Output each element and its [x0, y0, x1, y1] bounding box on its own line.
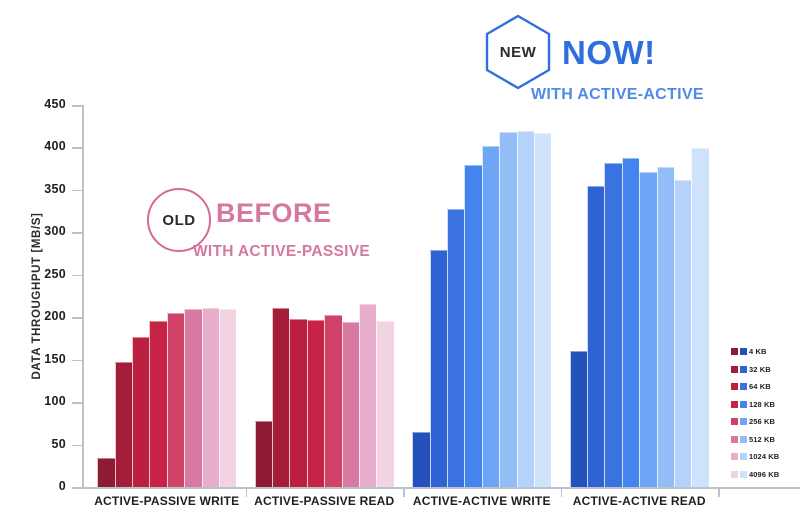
- bar: [482, 146, 499, 487]
- legend-swatch-red: [731, 348, 738, 355]
- legend-swatch-blue: [740, 418, 747, 425]
- y-axis-tick: [72, 147, 82, 149]
- legend-swatch-blue: [740, 453, 747, 460]
- y-axis-line: [82, 105, 84, 488]
- bar: [499, 132, 516, 487]
- bar: [167, 313, 184, 487]
- bar: [272, 308, 289, 487]
- old-badge-label: OLD: [162, 212, 195, 229]
- legend-item-label: 4 KB: [749, 347, 767, 356]
- x-axis-category-label: ACTIVE-ACTIVE READ: [561, 494, 719, 508]
- legend-item-label: 512 KB: [749, 435, 775, 444]
- bar: [202, 308, 219, 487]
- new-badge-label: NEW: [484, 14, 552, 90]
- bar: [604, 163, 621, 487]
- before-subline: WITH ACTIVE-PASSIVE: [193, 243, 370, 261]
- legend-swatch-blue: [740, 471, 747, 478]
- y-axis-tick-label: 0: [16, 479, 66, 493]
- bar: [691, 148, 708, 487]
- bar: [622, 158, 639, 487]
- legend-swatch-blue: [740, 401, 747, 408]
- bar: [307, 320, 324, 487]
- legend-item-label: 32 KB: [749, 365, 771, 374]
- y-axis-tick-label: 200: [16, 309, 66, 323]
- bar: [219, 309, 236, 487]
- y-axis-tick: [72, 232, 82, 234]
- y-axis-tick-label: 50: [16, 437, 66, 451]
- legend-item[interactable]: 4 KB: [731, 343, 779, 361]
- chart-canvas: DATA THROUGHPUT [MB/S] 45040035030025020…: [0, 0, 800, 529]
- bar-group: [255, 105, 394, 487]
- bar: [149, 321, 166, 487]
- bar: [97, 458, 114, 487]
- legend-swatch-red: [731, 401, 738, 408]
- bar-group: [412, 105, 551, 487]
- legend: 4 KB32 KB64 KB128 KB256 KB512 KB1024 KB4…: [731, 343, 779, 483]
- y-axis-tick-label: 350: [16, 182, 66, 196]
- bar: [587, 186, 604, 487]
- y-axis-tick: [72, 190, 82, 192]
- bar-group: [97, 105, 236, 487]
- legend-item[interactable]: 4096 KB: [731, 466, 779, 484]
- legend-swatch-blue: [740, 348, 747, 355]
- before-headline: BEFORE: [216, 200, 332, 227]
- bar: [289, 319, 306, 487]
- bar: [517, 131, 534, 487]
- legend-swatch-blue: [740, 366, 747, 373]
- y-axis-tick-label: 100: [16, 394, 66, 408]
- bar: [132, 337, 149, 487]
- x-axis-tick: [718, 488, 720, 497]
- now-subline: WITH ACTIVE-ACTIVE: [531, 86, 704, 104]
- legend-item-label: 4096 KB: [749, 470, 779, 479]
- y-axis-title: DATA THROUGHPUT [MB/S]: [31, 181, 43, 411]
- bar: [570, 351, 587, 487]
- y-axis-tick: [72, 402, 82, 404]
- legend-swatch-red: [731, 453, 738, 460]
- y-axis-tick: [72, 445, 82, 447]
- legend-swatch-red: [731, 436, 738, 443]
- bar: [657, 167, 674, 487]
- legend-item[interactable]: 64 KB: [731, 378, 779, 396]
- legend-swatch-blue: [740, 383, 747, 390]
- legend-item-label: 1024 KB: [749, 452, 779, 461]
- bar-group: [570, 105, 709, 487]
- legend-item[interactable]: 256 KB: [731, 413, 779, 431]
- legend-item-label: 256 KB: [749, 417, 775, 426]
- y-axis-tick: [72, 105, 82, 107]
- bar: [376, 321, 393, 487]
- y-axis-tick: [72, 360, 82, 362]
- bar: [447, 209, 464, 487]
- bar: [115, 362, 132, 487]
- bar: [255, 421, 272, 487]
- legend-item[interactable]: 512 KB: [731, 431, 779, 449]
- bar: [324, 315, 341, 487]
- bar: [184, 309, 201, 487]
- y-axis-tick: [72, 317, 82, 319]
- legend-swatch-blue: [740, 436, 747, 443]
- bar: [464, 165, 481, 487]
- x-axis-category-label: ACTIVE-ACTIVE WRITE: [403, 494, 561, 508]
- new-badge: NEW: [484, 14, 552, 90]
- x-axis-line: [82, 487, 800, 489]
- bar: [412, 432, 429, 487]
- y-axis-tick-label: 250: [16, 267, 66, 281]
- legend-swatch-red: [731, 383, 738, 390]
- bar: [674, 180, 691, 487]
- x-axis-category-label: ACTIVE-PASSIVE WRITE: [88, 494, 246, 508]
- plot-area: 450400350300250200150100500: [88, 105, 718, 487]
- legend-item-label: 64 KB: [749, 382, 771, 391]
- bar: [639, 172, 656, 487]
- legend-swatch-red: [731, 471, 738, 478]
- legend-item[interactable]: 1024 KB: [731, 448, 779, 466]
- legend-item[interactable]: 32 KB: [731, 361, 779, 379]
- bar: [359, 304, 376, 487]
- y-axis-tick-label: 450: [16, 97, 66, 111]
- now-headline: NOW!: [562, 36, 656, 69]
- y-axis-tick-label: 400: [16, 139, 66, 153]
- legend-swatch-red: [731, 366, 738, 373]
- y-axis-tick-label: 150: [16, 352, 66, 366]
- legend-item[interactable]: 128 KB: [731, 396, 779, 414]
- x-axis-category-label: ACTIVE-PASSIVE READ: [246, 494, 404, 508]
- legend-item-label: 128 KB: [749, 400, 775, 409]
- y-axis-tick-label: 300: [16, 224, 66, 238]
- y-axis-tick: [72, 487, 82, 489]
- bar: [342, 322, 359, 487]
- bar: [430, 250, 447, 487]
- bar: [534, 133, 551, 487]
- legend-swatch-red: [731, 418, 738, 425]
- y-axis-tick: [72, 275, 82, 277]
